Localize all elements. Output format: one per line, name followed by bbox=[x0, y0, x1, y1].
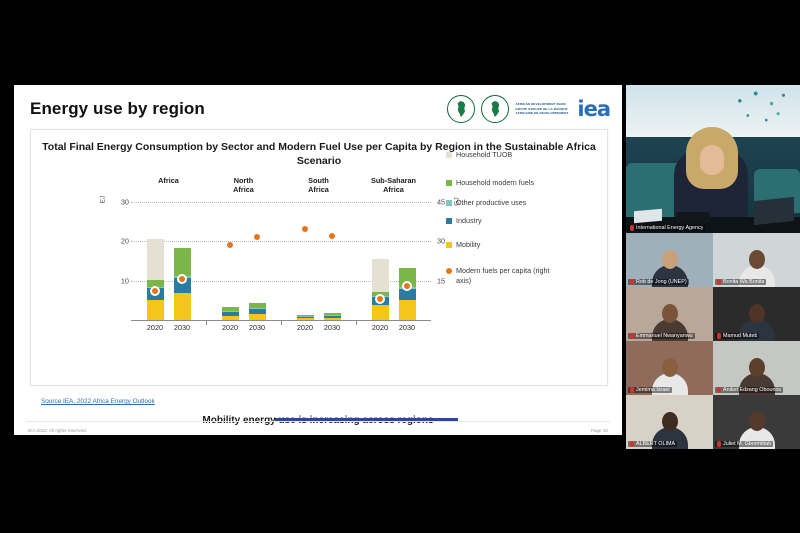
bar-segment bbox=[147, 239, 164, 280]
y-axis-tick-left: 20 bbox=[121, 237, 129, 246]
bar-stack bbox=[372, 259, 389, 320]
scatter-point bbox=[254, 234, 260, 240]
presentation-slide: Energy use by region AFRICAN DEVELOPMENT… bbox=[14, 85, 622, 435]
legend-item: Household modern fuels bbox=[446, 178, 534, 188]
participant-name-label: Rob de Jong (UNEP) bbox=[628, 279, 689, 285]
bar-segment bbox=[222, 311, 239, 312]
participant-head bbox=[662, 304, 678, 323]
bar-segment bbox=[147, 280, 164, 286]
participant-name-label: Mamud Muteb bbox=[715, 333, 759, 339]
chart-panel: Total Final Energy Consumption by Sector… bbox=[30, 129, 608, 386]
bar-stack bbox=[222, 307, 239, 320]
chart-group-label: Africa bbox=[131, 176, 206, 185]
x-axis-tick: 2020 bbox=[142, 323, 168, 332]
bar-segment bbox=[297, 316, 314, 318]
bar-segment bbox=[297, 315, 314, 316]
x-axis-tick: 2030 bbox=[169, 323, 195, 332]
copyright-text: IEA 2022. All rights reserved. bbox=[28, 428, 87, 433]
y-axis-tick-left: 10 bbox=[121, 276, 129, 285]
video-tile[interactable]: Jemima Israel bbox=[626, 341, 713, 395]
speaker-face bbox=[700, 145, 724, 175]
bar-segment bbox=[399, 300, 416, 320]
participant-head bbox=[749, 358, 765, 377]
participant-name-text: Juliet M. Gbormittah bbox=[723, 441, 771, 447]
scatter-point bbox=[329, 233, 335, 239]
participant-name-text: Rob de Jong (UNEP) bbox=[636, 279, 687, 285]
legend-label: Modern fuels per capita (right axis) bbox=[456, 266, 556, 285]
bar-segment bbox=[372, 305, 389, 320]
video-tile[interactable]: Aniket Edzang Obounou bbox=[713, 341, 800, 395]
bar-segment bbox=[324, 318, 341, 320]
screen: Energy use by region AFRICAN DEVELOPMENT… bbox=[0, 0, 800, 533]
iea-logo-icon: iea bbox=[577, 97, 610, 121]
y-axis-tick-right: 45 bbox=[437, 197, 445, 206]
bar-segment bbox=[222, 316, 239, 320]
scatter-point bbox=[152, 288, 158, 294]
footer-divider bbox=[26, 421, 610, 422]
footer-accent-bar bbox=[14, 418, 622, 421]
bar-segment bbox=[147, 300, 164, 320]
x-axis-tick: 2030 bbox=[244, 323, 270, 332]
participant-head bbox=[749, 250, 765, 269]
participant-name-text: Bonita Wa Bonita bbox=[723, 279, 764, 285]
video-tile[interactable]: Rob de Jong (UNEP) bbox=[626, 233, 713, 287]
axis-group-separator bbox=[356, 320, 357, 325]
participant-head bbox=[662, 358, 678, 377]
scatter-point bbox=[404, 283, 410, 289]
speaker-name-text: International Energy Agency bbox=[636, 225, 703, 231]
x-axis-tick: 2020 bbox=[292, 323, 318, 332]
x-axis-tick: 2020 bbox=[367, 323, 393, 332]
axis-group-separator bbox=[206, 320, 207, 325]
x-axis-tick: 2030 bbox=[394, 323, 420, 332]
x-axis-tick: 2030 bbox=[319, 323, 345, 332]
participant-head bbox=[662, 250, 678, 269]
scatter-point bbox=[377, 296, 383, 302]
video-tile[interactable]: ALBERT OLIMA bbox=[626, 395, 713, 449]
participant-head bbox=[749, 304, 765, 323]
bar-segment bbox=[249, 309, 266, 314]
bar-stack bbox=[399, 268, 416, 320]
legend-item: Other productive uses bbox=[446, 198, 526, 208]
video-tile[interactable]: Mamud Muteb bbox=[713, 287, 800, 341]
mic-muted-icon bbox=[717, 441, 721, 447]
bar-segment bbox=[249, 303, 266, 309]
logo-group: AFRICAN DEVELOPMENT BANK GROUP GROUPE DE… bbox=[447, 95, 610, 123]
bar-stack bbox=[324, 313, 341, 320]
mic-muted-icon bbox=[717, 279, 721, 285]
legend-label: Household TUOB bbox=[456, 150, 512, 160]
participant-name-text: Jemima Israel bbox=[636, 387, 670, 393]
participant-name-label: Juliet M. Gbormittah bbox=[715, 441, 773, 447]
scatter-point bbox=[179, 276, 185, 282]
mic-muted-icon bbox=[630, 279, 634, 285]
bar-stack bbox=[297, 315, 314, 321]
speaker-name-label: International Energy Agency bbox=[628, 225, 705, 231]
bar-segment bbox=[249, 314, 266, 320]
bar-stack bbox=[174, 248, 191, 320]
bar-segment bbox=[174, 293, 191, 320]
y-axis-label-left: EJ bbox=[99, 196, 106, 204]
legend-swatch bbox=[446, 152, 452, 158]
mic-muted-icon bbox=[630, 441, 634, 447]
bar-segment bbox=[222, 312, 239, 316]
bar-segment bbox=[297, 318, 314, 320]
y-axis-tick-right: 30 bbox=[437, 237, 445, 246]
bar-segment bbox=[399, 289, 416, 301]
source-link[interactable]: Source IEA, 2022 Africa Energy Outlook bbox=[41, 398, 155, 405]
legend-swatch bbox=[446, 268, 452, 274]
x-axis-tick: 2020 bbox=[217, 323, 243, 332]
scatter-point bbox=[302, 226, 308, 232]
afdb-wordmark: AFRICAN DEVELOPMENT BANK GROUP GROUPE DE… bbox=[515, 102, 571, 115]
bar-stack bbox=[249, 303, 266, 320]
legend-swatch bbox=[446, 218, 452, 224]
video-tile[interactable]: Bonita Wa Bonita bbox=[713, 233, 800, 287]
legend-item: Household TUOB bbox=[446, 150, 512, 160]
bar-segment bbox=[324, 313, 341, 315]
legend-label: Other productive uses bbox=[456, 198, 526, 208]
mic-muted-icon bbox=[717, 387, 721, 393]
legend-item: Industry bbox=[446, 216, 482, 226]
chart-area: 101520303045EJGJ202020302020203020202030… bbox=[131, 190, 431, 340]
bar-segment bbox=[324, 315, 341, 317]
video-tile-speaker[interactable]: International Energy Agency bbox=[626, 85, 800, 233]
participant-name-label: Aniket Edzang Obounou bbox=[715, 387, 783, 393]
plot-area: 101520303045EJGJ202020302020203020202030… bbox=[131, 190, 431, 320]
y-axis-tick-left: 30 bbox=[121, 197, 129, 206]
participant-head bbox=[749, 412, 765, 431]
legend-item: Mobility bbox=[446, 240, 480, 250]
laptop-icon bbox=[754, 197, 794, 225]
participant-name-text: Aniket Edzang Obounou bbox=[723, 387, 781, 393]
microphone bbox=[676, 212, 710, 223]
bar-stack bbox=[147, 239, 164, 320]
participant-name-label: Emmanuel Nwanyanwu bbox=[628, 333, 695, 339]
participant-head bbox=[662, 412, 678, 431]
notepad bbox=[634, 209, 662, 223]
bar-segment bbox=[222, 307, 239, 311]
participant-name-label: Bonita Wa Bonita bbox=[715, 279, 766, 285]
mic-muted-icon bbox=[717, 333, 721, 339]
bar-segment bbox=[249, 308, 266, 309]
video-tile[interactable]: Juliet M. Gbormittah bbox=[713, 395, 800, 449]
participant-name-label: Jemima Israel bbox=[628, 387, 672, 393]
legend-swatch bbox=[446, 180, 452, 186]
page-number: Page 10 bbox=[591, 428, 608, 433]
gridline bbox=[131, 202, 431, 203]
page-title: Energy use by region bbox=[30, 99, 205, 119]
bar-segment bbox=[174, 248, 191, 276]
mic-muted-icon bbox=[630, 225, 634, 231]
legend-label: Mobility bbox=[456, 240, 480, 250]
afdb-seal-icon-2 bbox=[481, 95, 509, 123]
video-participant-grid: International Energy Agency Rob de Jong … bbox=[626, 85, 800, 448]
participant-name-label: ALBERT OLIMA bbox=[628, 441, 677, 447]
scatter-point bbox=[227, 242, 233, 248]
speaker-background-art bbox=[728, 87, 794, 133]
participant-name-text: ALBERT OLIMA bbox=[636, 441, 675, 447]
axis-group-separator bbox=[281, 320, 282, 325]
legend-swatch bbox=[446, 200, 452, 206]
mic-muted-icon bbox=[630, 387, 634, 393]
legend-label: Household modern fuels bbox=[456, 178, 534, 188]
bar-segment bbox=[372, 259, 389, 292]
y-axis-tick-right: 15 bbox=[437, 276, 445, 285]
legend-swatch bbox=[446, 242, 452, 248]
video-tile[interactable]: Emmanuel Nwanyanwu bbox=[626, 287, 713, 341]
legend-label: Industry bbox=[456, 216, 482, 226]
chart-title: Total Final Energy Consumption by Sector… bbox=[31, 140, 607, 168]
gridline bbox=[131, 241, 431, 242]
afdb-seal-icon bbox=[447, 95, 475, 123]
mic-muted-icon bbox=[630, 333, 634, 339]
legend-item: Modern fuels per capita (right axis) bbox=[446, 266, 556, 285]
participant-name-text: Mamud Muteb bbox=[723, 333, 757, 339]
participant-name-text: Emmanuel Nwanyanwu bbox=[636, 333, 693, 339]
